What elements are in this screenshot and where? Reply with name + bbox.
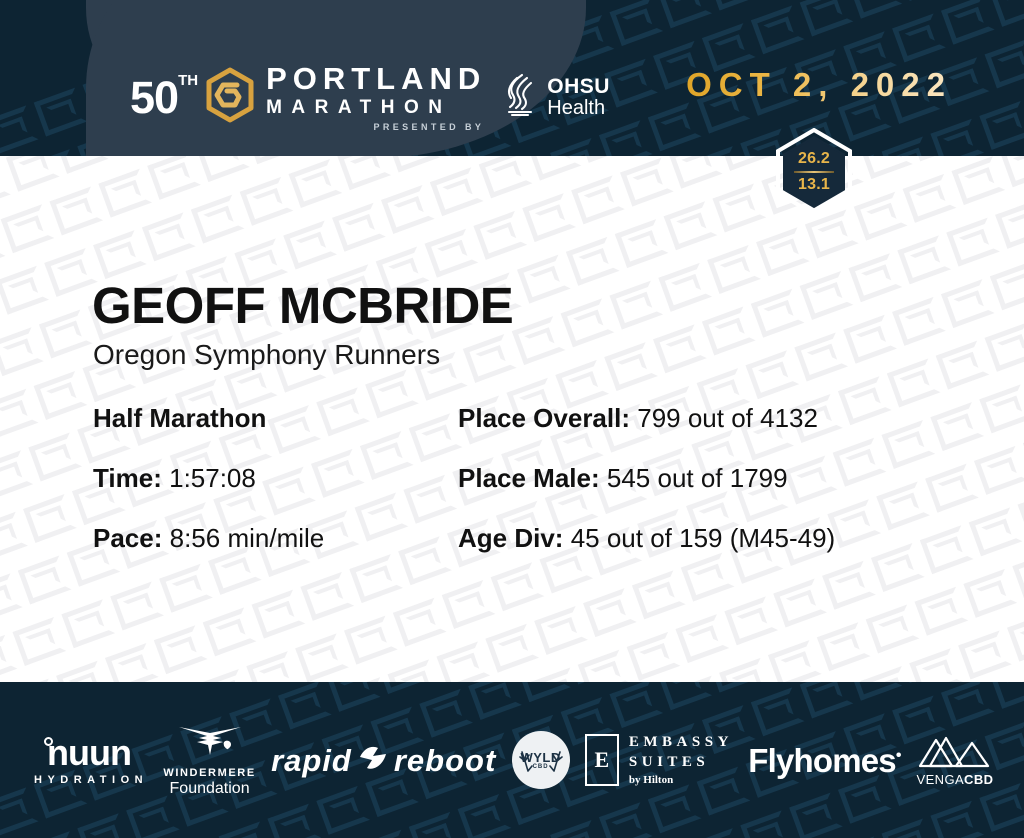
- greek-key-glyph: [463, 335, 510, 375]
- greek-key-glyph: [197, 670, 244, 682]
- greek-key-glyph: [251, 591, 298, 631]
- sponsor-logo-nuun: nuun HYDRATION: [30, 735, 148, 786]
- event-wordmark: PORTLAND MARATHON PRESENTED BY: [266, 63, 486, 132]
- greek-key-glyph: [871, 544, 918, 584]
- greek-key-glyph: [653, 325, 700, 365]
- greek-key-glyph: [234, 239, 281, 279]
- greek-key-glyph: [0, 328, 37, 368]
- badge-full-distance: 26.2: [798, 151, 830, 167]
- greek-key-glyph: [860, 667, 907, 682]
- greek-key-glyph: [756, 228, 803, 268]
- ohsu-flame-icon: [500, 72, 540, 123]
- greek-key-glyph: [393, 599, 440, 639]
- greek-key-glyph: [295, 634, 342, 674]
- greek-key-glyph: [648, 103, 695, 143]
- greek-key-glyph: [0, 574, 16, 614]
- greek-key-glyph: [719, 659, 766, 682]
- stat-pace: Pace: 8:56 min/mile: [93, 525, 324, 551]
- greek-key-glyph: [817, 623, 864, 663]
- ohsu-health-logo: OHSU Health: [500, 72, 610, 123]
- greek-key-glyph: [604, 343, 651, 383]
- flyhomes-trademark: •: [896, 747, 901, 764]
- sponsor-logo-windermere: WINDERMERE Foundation: [163, 724, 255, 797]
- greek-key-glyph: [344, 617, 391, 657]
- greek-key-glyph: [930, 120, 977, 156]
- sponsor-logo-rapid-reboot: rapid reboot: [271, 743, 496, 778]
- greek-key-glyph: [892, 14, 939, 54]
- greek-key-glyph: [550, 139, 597, 156]
- ohsu-sub: Health: [547, 98, 610, 118]
- greek-key-glyph: [12, 618, 59, 658]
- stat-place-overall-value: 799 out of 4132: [637, 403, 818, 433]
- greek-key-glyph: [485, 625, 532, 665]
- anniversary-ordinal-suffix: TH: [178, 73, 198, 88]
- greek-key-glyph: [669, 156, 716, 181]
- greek-key-glyph: [49, 187, 96, 227]
- greek-key-glyph: [914, 588, 961, 628]
- greek-key-glyph: [555, 361, 602, 401]
- windermere-wings-icon: [177, 745, 243, 762]
- greek-key-glyph: [848, 0, 895, 11]
- greek-key-glyph: [848, 254, 895, 294]
- greek-key-glyph: [675, 615, 722, 655]
- greek-key-glyph: [196, 156, 243, 174]
- venga-wordmark: VENGACBD: [916, 773, 994, 786]
- presented-by-label: PRESENTED BY: [266, 123, 486, 132]
- greek-key-glyph: [262, 468, 309, 508]
- greek-key-glyph: [142, 213, 189, 253]
- greek-key-glyph: [887, 359, 934, 399]
- greek-key-glyph: [984, 40, 1024, 80]
- greek-key-glyph: [534, 607, 581, 647]
- greek-key-glyph: [288, 160, 335, 200]
- stat-pace-value: 8:56 min/mile: [170, 523, 325, 553]
- greek-key-glyph: [424, 230, 471, 270]
- fiftieth-anniversary-mark: 50TH: [130, 75, 178, 120]
- greek-key-glyph: [620, 159, 667, 199]
- greek-key-glyph: [44, 249, 91, 289]
- flyhomes-name: Flyhomes: [748, 742, 896, 779]
- greek-key-glyph: [681, 554, 728, 594]
- greek-key-glyph: [34, 89, 81, 129]
- greek-key-glyph: [930, 403, 977, 443]
- greek-key-glyph: [354, 494, 401, 534]
- greek-key-glyph: [941, 280, 988, 320]
- ohsu-name: OHSU: [547, 76, 610, 97]
- greek-key-glyph: [473, 212, 520, 252]
- greek-key-glyph: [381, 186, 428, 226]
- wordmark-portland: PORTLAND: [266, 63, 486, 94]
- greek-key-glyph: [658, 0, 705, 20]
- greek-key-glyph: [332, 204, 379, 244]
- greek-key-glyph: [360, 432, 407, 472]
- pattern-row: [0, 327, 1024, 682]
- greek-key-glyph: [0, 451, 27, 491]
- greek-key-glyph: [522, 194, 569, 234]
- greek-key-glyph: [892, 298, 939, 338]
- greek-key-glyph: [745, 351, 792, 391]
- greek-key-glyph: [604, 60, 651, 100]
- greek-key-glyph: [349, 555, 396, 595]
- venga-name-second: CBD: [964, 772, 993, 787]
- greek-key-glyph: [881, 421, 928, 461]
- greek-key-glyph: [897, 236, 944, 276]
- greek-key-glyph: [609, 0, 656, 38]
- greek-key-glyph: [388, 660, 435, 682]
- greek-key-glyph: [941, 0, 988, 37]
- greek-key-glyph: [990, 0, 1024, 19]
- greek-key-glyph: [283, 222, 330, 262]
- greek-key-glyph: [0, 636, 11, 676]
- greek-key-glyph: [18, 557, 65, 597]
- stat-place-overall: Place Overall: 799 out of 4132: [458, 405, 818, 431]
- greek-key-glyph: [1007, 614, 1024, 654]
- embassy-name-first: EMBASSY: [629, 735, 733, 750]
- greek-key-glyph: [365, 371, 412, 411]
- pattern-row: [0, 538, 1024, 682]
- stat-age-division-value: 45 out of 159 (M45-49): [571, 523, 836, 553]
- rapid-reboot-name-second: reboot: [394, 745, 496, 776]
- stat-place-overall-label: Place Overall:: [458, 403, 630, 433]
- greek-key-glyph: [936, 342, 983, 382]
- greek-key-glyph: [691, 147, 738, 156]
- greek-key-glyph: [946, 219, 993, 259]
- greek-key-glyph: [1012, 552, 1024, 592]
- greek-key-glyph: [6, 156, 53, 184]
- greek-key-glyph: [925, 465, 972, 505]
- greek-key-glyph: [491, 563, 538, 603]
- greek-key-glyph: [403, 476, 450, 516]
- greek-key-glyph: [28, 433, 75, 473]
- greek-key-glyph: [664, 202, 711, 242]
- greek-key-glyph: [951, 157, 998, 197]
- embassy-tagline: by Hilton: [629, 775, 733, 786]
- nuun-tagline: HYDRATION: [30, 775, 148, 786]
- race-date: OCT 2, 2022: [686, 66, 952, 104]
- sponsor-logo-embassy-suites: E EMBASSY SUITES by Hilton: [585, 734, 733, 786]
- greek-key-glyph: [311, 450, 358, 490]
- header-banner: 50TH PORTLAND MARATHON PRESENTED BY: [0, 0, 1024, 156]
- greek-key-glyph: [583, 589, 630, 629]
- sponsor-logo-flyhomes: Flyhomes•: [748, 744, 900, 777]
- greek-key-glyph: [398, 537, 445, 577]
- greek-key-glyph: [876, 482, 923, 522]
- runner-team: Oregon Symphony Runners: [93, 341, 440, 369]
- greek-key-glyph: [240, 178, 287, 218]
- greek-key-glyph: [724, 597, 771, 637]
- stat-place-male-label: Place Male:: [458, 463, 600, 493]
- wordmark-marathon: MARATHON: [266, 98, 486, 117]
- greek-key-glyph: [718, 156, 765, 163]
- greek-key-glyph: [442, 581, 489, 621]
- greek-key-glyph: [56, 662, 103, 682]
- greek-key-glyph: [0, 513, 21, 553]
- wyld-name: WYLD: [520, 751, 560, 764]
- greek-key-glyph: [702, 24, 749, 64]
- greek-key-glyph: [23, 495, 70, 535]
- greek-key-glyph: [909, 649, 956, 682]
- greek-key-glyph: [246, 652, 293, 682]
- results-body: GEOFF MCBRIDE Oregon Symphony Runners Ha…: [0, 156, 1024, 682]
- greek-key-glyph: [39, 310, 86, 350]
- stat-time-label: Time:: [93, 463, 162, 493]
- greek-key-glyph: [707, 0, 754, 3]
- greek-key-glyph: [0, 106, 32, 146]
- embassy-name-second: SUITES: [629, 755, 733, 770]
- greek-key-glyph: [958, 631, 1005, 671]
- pattern-row: [0, 643, 1024, 682]
- stat-place-male: Place Male: 545 out of 1799: [458, 465, 788, 491]
- greek-key-glyph: [409, 414, 456, 454]
- greek-key-glyph: [969, 508, 1016, 548]
- pattern-row: [0, 485, 1024, 682]
- greek-key-glyph: [61, 600, 108, 640]
- greek-key-glyph: [658, 264, 705, 304]
- greek-key-glyph: [0, 267, 42, 307]
- greek-key-glyph: [1, 205, 48, 245]
- greek-key-glyph: [794, 333, 841, 373]
- anniversary-number: 50: [130, 72, 178, 123]
- greek-key-glyph: [979, 102, 1024, 142]
- nuun-dot-icon: [44, 737, 53, 746]
- greek-key-glyph: [984, 324, 1024, 364]
- sponsor-logo-venga-cbd: VENGACBD: [916, 734, 994, 786]
- mountains-icon: [916, 755, 994, 772]
- greek-key-glyph: [990, 262, 1024, 302]
- greek-key-glyph: [773, 580, 820, 620]
- greek-key-glyph: [571, 176, 618, 216]
- greek-key-glyph: [316, 388, 363, 428]
- greek-key-glyph: [903, 175, 950, 215]
- greek-key-glyph: [859, 156, 906, 171]
- greek-key-glyph: [854, 193, 901, 233]
- greek-key-glyph: [838, 377, 885, 417]
- nuun-name: nuun: [47, 735, 131, 771]
- wyld-circle-badge: WYLD CBD: [512, 731, 570, 789]
- greek-key-glyph: [159, 565, 206, 605]
- greek-key-glyph: [93, 231, 140, 271]
- greek-key-glyph: [800, 0, 847, 29]
- greek-key-glyph: [479, 156, 526, 190]
- greek-key-glyph: [430, 168, 477, 208]
- greek-key-glyph: [529, 668, 576, 682]
- race-result-certificate: 50TH PORTLAND MARATHON PRESENTED BY: [0, 0, 1024, 838]
- greek-key-glyph: [203, 608, 250, 648]
- greek-key-glyph: [110, 582, 157, 622]
- greek-key-glyph: [627, 633, 674, 673]
- greek-key-glyph: [300, 573, 347, 613]
- greek-key-glyph: [34, 372, 81, 412]
- greek-key-glyph: [154, 626, 201, 666]
- greek-key-glyph: [866, 605, 913, 645]
- greek-key-glyph: [517, 256, 564, 296]
- lightning-bolt-icon: [356, 743, 390, 778]
- stat-place-male-value: 545 out of 1799: [607, 463, 788, 493]
- greek-key-glyph: [191, 196, 238, 236]
- greek-key-glyph: [712, 184, 759, 224]
- badge-divider: [794, 171, 834, 173]
- stat-event-name: Half Marathon: [93, 405, 266, 431]
- greek-key-glyph: [751, 290, 798, 330]
- greek-key-glyph: [337, 156, 384, 182]
- greek-key-glyph: [963, 570, 1010, 610]
- windermere-name: WINDERMERE: [163, 768, 255, 779]
- stat-time: Time: 1:57:08: [93, 465, 256, 491]
- sponsor-logo-wyld: WYLD CBD: [512, 731, 570, 789]
- greek-key-glyph: [1017, 491, 1024, 531]
- greek-key-glyph: [0, 161, 4, 201]
- greek-key-glyph: [751, 6, 798, 46]
- rapid-reboot-name-first: rapid: [271, 745, 352, 776]
- stat-age-division: Age Div: 45 out of 159 (M45-49): [458, 525, 835, 551]
- embassy-monogram: E: [585, 734, 619, 786]
- greek-key-glyph: [805, 210, 852, 250]
- greek-key-glyph: [105, 644, 152, 682]
- greek-key-glyph: [833, 439, 880, 479]
- greek-key-glyph: [843, 316, 890, 356]
- greek-key-glyph: [0, 390, 32, 430]
- greek-key-glyph: [822, 562, 869, 602]
- greek-key-glyph: [632, 571, 679, 611]
- greek-key-glyph: [55, 156, 102, 166]
- stat-age-division-label: Age Div:: [458, 523, 563, 553]
- greek-key-glyph: [707, 246, 754, 286]
- event-logo-lockup: 50TH PORTLAND MARATHON PRESENTED BY: [130, 62, 610, 132]
- greek-key-glyph: [566, 238, 613, 278]
- greek-key-glyph: [920, 526, 967, 566]
- sponsor-footer: nuun HYDRATION WINDERMERE Foundation: [0, 682, 1024, 838]
- greek-key-glyph: [436, 643, 483, 682]
- greek-key-glyph: [702, 308, 749, 348]
- greek-key-glyph: [267, 406, 314, 446]
- runner-name: GEOFF MCBRIDE: [92, 280, 513, 331]
- stat-pace-label: Pace:: [93, 523, 162, 553]
- greek-key-glyph: [768, 641, 815, 681]
- greek-key-glyph: [974, 447, 1021, 487]
- greek-key-glyph: [561, 299, 608, 339]
- greek-key-glyph: [512, 317, 559, 357]
- greek-key-glyph: [1000, 156, 1024, 179]
- stat-time-value: 1:57:08: [169, 463, 256, 493]
- greek-key-glyph: [609, 282, 656, 322]
- greek-key-glyph: [578, 651, 625, 682]
- greek-key-glyph: [386, 156, 433, 164]
- greek-key-glyph: [979, 385, 1024, 425]
- badge-half-distance: 13.1: [798, 177, 830, 193]
- windermere-tagline: Foundation: [163, 781, 255, 797]
- greek-key-glyph: [1002, 675, 1024, 682]
- greek-key-glyph: [995, 201, 1024, 241]
- greek-key-glyph: [881, 138, 928, 156]
- venga-name-first: VENGA: [917, 772, 965, 787]
- pattern-row: [0, 590, 1024, 682]
- hexagon-spiral-icon: [204, 67, 256, 128]
- greek-key-glyph: [615, 220, 662, 260]
- greek-key-glyph: [800, 272, 847, 312]
- pattern-row: [0, 156, 1024, 284]
- distance-badge: 26.2 13.1: [772, 128, 856, 216]
- greek-key-glyph: [147, 156, 194, 192]
- greek-key-glyph: [784, 457, 831, 497]
- greek-key-glyph: [98, 170, 145, 210]
- greek-key-glyph: [527, 156, 574, 173]
